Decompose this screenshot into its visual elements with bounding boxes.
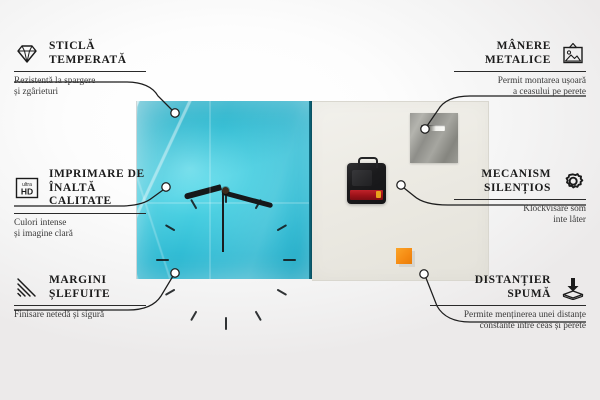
callout-title: STICLĂTEMPERATĂ — [49, 40, 127, 67]
metal-hanger-plate — [410, 113, 458, 163]
polished-edges-icon — [14, 276, 40, 300]
callout-header: MÂNEREMETALICE — [454, 40, 586, 67]
picture-frame-icon — [560, 42, 586, 66]
clock-face-panel — [136, 101, 313, 279]
minute-hand — [221, 190, 273, 208]
tick-mark — [225, 190, 227, 260]
tick-mark — [225, 199, 262, 261]
callout-subtitle: Culori intenseși imagine clară — [14, 218, 146, 240]
callout-polished-edges: MARGINIȘLEFUITE Finisare netedă și sigur… — [14, 274, 146, 321]
battery-terminal — [376, 191, 381, 198]
battery — [350, 190, 383, 200]
hour-hand — [184, 184, 222, 200]
callout-subtitle: Rezistentă la spargereși zgârieturi — [14, 76, 146, 98]
callout-rule — [14, 71, 146, 72]
callout-tempered-glass: STICLĂTEMPERATĂ Rezistentă la spargereși… — [14, 40, 146, 98]
clock-hub — [222, 187, 229, 194]
callout-subtitle: Finisare netedă și sigură — [14, 310, 146, 321]
hanger-slot — [421, 125, 445, 131]
callout-rule — [430, 305, 586, 306]
diamond-icon — [14, 42, 40, 66]
clock-dial — [137, 101, 313, 279]
foam-spacer — [396, 248, 412, 264]
callout-header: MARGINIȘLEFUITE — [14, 274, 146, 301]
callout-header: STICLĂTEMPERATĂ — [14, 40, 146, 67]
movement-housing — [352, 170, 372, 186]
callout-rule — [14, 305, 146, 306]
product-image — [136, 101, 488, 279]
callout-header: DISTANȚIERSPUMĂ — [430, 274, 586, 301]
callout-subtitle: Permit montarea ușoarăa ceasului pe pere… — [454, 76, 586, 98]
callout-silent-mechanism: MECANISMSILENȚIOS Klockvisare sominte lå… — [454, 168, 586, 226]
gear-icon — [560, 170, 586, 194]
callout-title: IMPRIMARE DEÎNALTĂ CALITATE — [49, 168, 146, 209]
callout-title: MARGINIȘLEFUITE — [49, 274, 110, 301]
callout-title: MÂNEREMETALICE — [485, 40, 551, 67]
infographic-canvas: STICLĂTEMPERATĂ Rezistentă la spargereși… — [0, 0, 600, 400]
callout-metal-handles: MÂNEREMETALICE Permit montarea ușoarăa c… — [454, 40, 586, 98]
tick-mark — [226, 259, 296, 261]
callout-title: DISTANȚIERSPUMĂ — [475, 274, 551, 301]
callout-subtitle: Permite menținerea unei distanțeconstant… — [430, 310, 586, 332]
callout-rule — [14, 213, 146, 214]
second-hand — [222, 190, 224, 252]
tick-mark — [165, 259, 227, 296]
callout-high-quality-print: ultra HD IMPRIMARE DEÎNALTĂ CALITATE Cul… — [14, 168, 146, 240]
spacer-arrow-icon — [560, 276, 586, 300]
tick-mark — [156, 259, 226, 261]
tick-mark — [225, 260, 227, 330]
callout-rule — [454, 199, 586, 200]
callout-header: ultra HD IMPRIMARE DEÎNALTĂ CALITATE — [14, 168, 146, 209]
tick-mark — [190, 260, 227, 322]
callout-rule — [454, 71, 586, 72]
svg-text:HD: HD — [21, 187, 33, 197]
movement-hook — [358, 157, 378, 168]
callout-header: MECANISMSILENȚIOS — [454, 168, 586, 195]
ultra-hd-icon: ultra HD — [14, 176, 40, 200]
callout-subtitle: Klockvisare sominte låter — [454, 204, 586, 226]
clock-movement — [347, 163, 386, 204]
callout-foam-spacer: DISTANȚIERSPUMĂ Permite menținerea unei … — [430, 274, 586, 332]
callout-title: MECANISMSILENȚIOS — [481, 168, 551, 195]
